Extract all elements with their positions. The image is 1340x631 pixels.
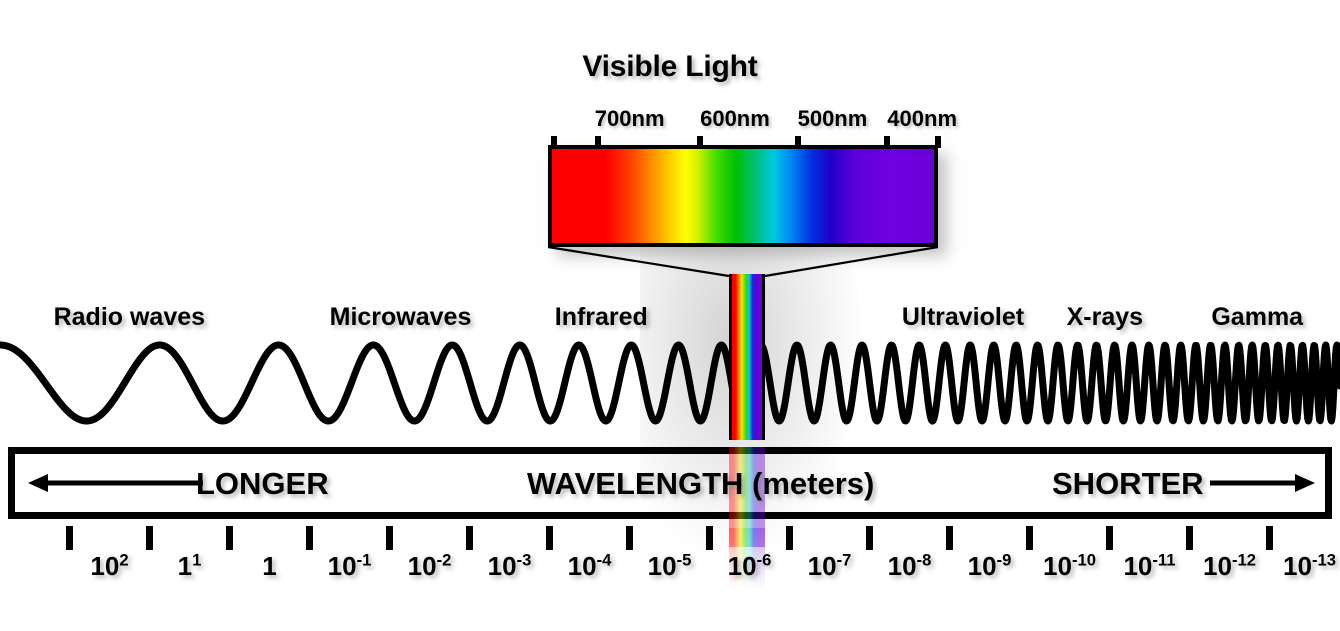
- scale-label-exponent: -5: [677, 550, 692, 569]
- scale-tick: [1186, 526, 1193, 550]
- band-label: Microwaves: [330, 303, 472, 332]
- scale-label: 10-12: [1203, 551, 1256, 582]
- scale-label: 102: [90, 551, 128, 582]
- visible-light-tick-labels: 700nm600nm500nm400nm: [548, 106, 938, 134]
- scale-tick: [226, 526, 233, 550]
- scale-label-exponent: -10: [1072, 550, 1096, 569]
- scale-label: 10-11: [1123, 551, 1175, 582]
- scale-label-exponent: -12: [1232, 550, 1256, 569]
- shorter-arrow-icon: [1210, 470, 1315, 496]
- scale-label-exponent: 1: [192, 550, 201, 569]
- scale-label-exponent: 2: [119, 550, 128, 569]
- scale-tick: [626, 526, 633, 550]
- visible-light-title: Visible Light: [0, 50, 1340, 84]
- scale-label-exponent: -4: [597, 550, 612, 569]
- scale-label-group: 10211110-110-210-310-410-510-610-710-810…: [0, 551, 1340, 597]
- band-label: Gamma: [1211, 303, 1303, 332]
- visible-light-tick-label: 600nm: [700, 106, 770, 132]
- scale-label: 10-9: [968, 551, 1012, 582]
- scale-tick: [1266, 526, 1273, 550]
- scale-label: 10-10: [1043, 551, 1096, 582]
- scale-tick: [1106, 526, 1113, 550]
- scale-label: 10-6: [728, 551, 772, 582]
- band-label: Ultraviolet: [902, 303, 1024, 332]
- scale-tick: [1026, 526, 1033, 550]
- scale-tick: [146, 526, 153, 550]
- visible-light-tick-label: 700nm: [595, 106, 665, 132]
- scale-label: 1: [262, 551, 276, 582]
- scale-tick-group: [0, 526, 1340, 550]
- scale-label: 10-2: [408, 551, 452, 582]
- sine-wave: [0, 330, 1340, 440]
- scale-label-exponent: -13: [1312, 550, 1336, 569]
- scale-label-exponent: -9: [997, 550, 1012, 569]
- band-label: Infrared: [555, 303, 648, 332]
- longer-label: LONGER: [196, 466, 329, 502]
- scale-tick: [546, 526, 553, 550]
- visible-light-gradient: [552, 149, 934, 243]
- scale-label: 11: [178, 551, 202, 582]
- scale-label-exponent: -11: [1152, 550, 1175, 569]
- visible-light-spectrum-box: [548, 145, 938, 247]
- scale-tick: [466, 526, 473, 550]
- scale-label: 10-13: [1283, 551, 1336, 582]
- scale-label-exponent: -3: [517, 550, 532, 569]
- scale-tick: [866, 526, 873, 550]
- scale-tick: [386, 526, 393, 550]
- scale-label: 10-4: [568, 551, 612, 582]
- scale-tick: [786, 526, 793, 550]
- band-label: X-rays: [1067, 303, 1143, 332]
- scale-label: 10-7: [808, 551, 852, 582]
- scale-tick: [66, 526, 73, 550]
- scale-label: 10-8: [888, 551, 932, 582]
- wavelength-axis-label: WAVELENGTH (meters): [527, 466, 874, 502]
- visible-light-tick-label: 400nm: [887, 106, 957, 132]
- visible-light-column: [729, 274, 765, 440]
- longer-arrow-icon: [28, 470, 203, 496]
- scale-label: 10-1: [328, 551, 372, 582]
- visible-light-column-gradient: [732, 274, 762, 440]
- visible-light-tick-label: 500nm: [798, 106, 868, 132]
- scale-tick: [306, 526, 313, 550]
- scale-label-exponent: -8: [917, 550, 932, 569]
- shorter-label: SHORTER: [1052, 466, 1204, 502]
- scale-label: 10-5: [648, 551, 692, 582]
- scale-label-exponent: -6: [757, 550, 772, 569]
- scale-tick: [946, 526, 953, 550]
- band-label: Radio waves: [54, 303, 205, 332]
- scale-label-exponent: -2: [437, 550, 452, 569]
- scale-label-exponent: -7: [837, 550, 852, 569]
- scale-tick: [706, 526, 713, 550]
- em-spectrum-diagram: Visible Light 700nm600nm500nm400nm Radio…: [0, 0, 1340, 631]
- scale-label-exponent: -1: [357, 550, 372, 569]
- scale-label: 10-3: [488, 551, 532, 582]
